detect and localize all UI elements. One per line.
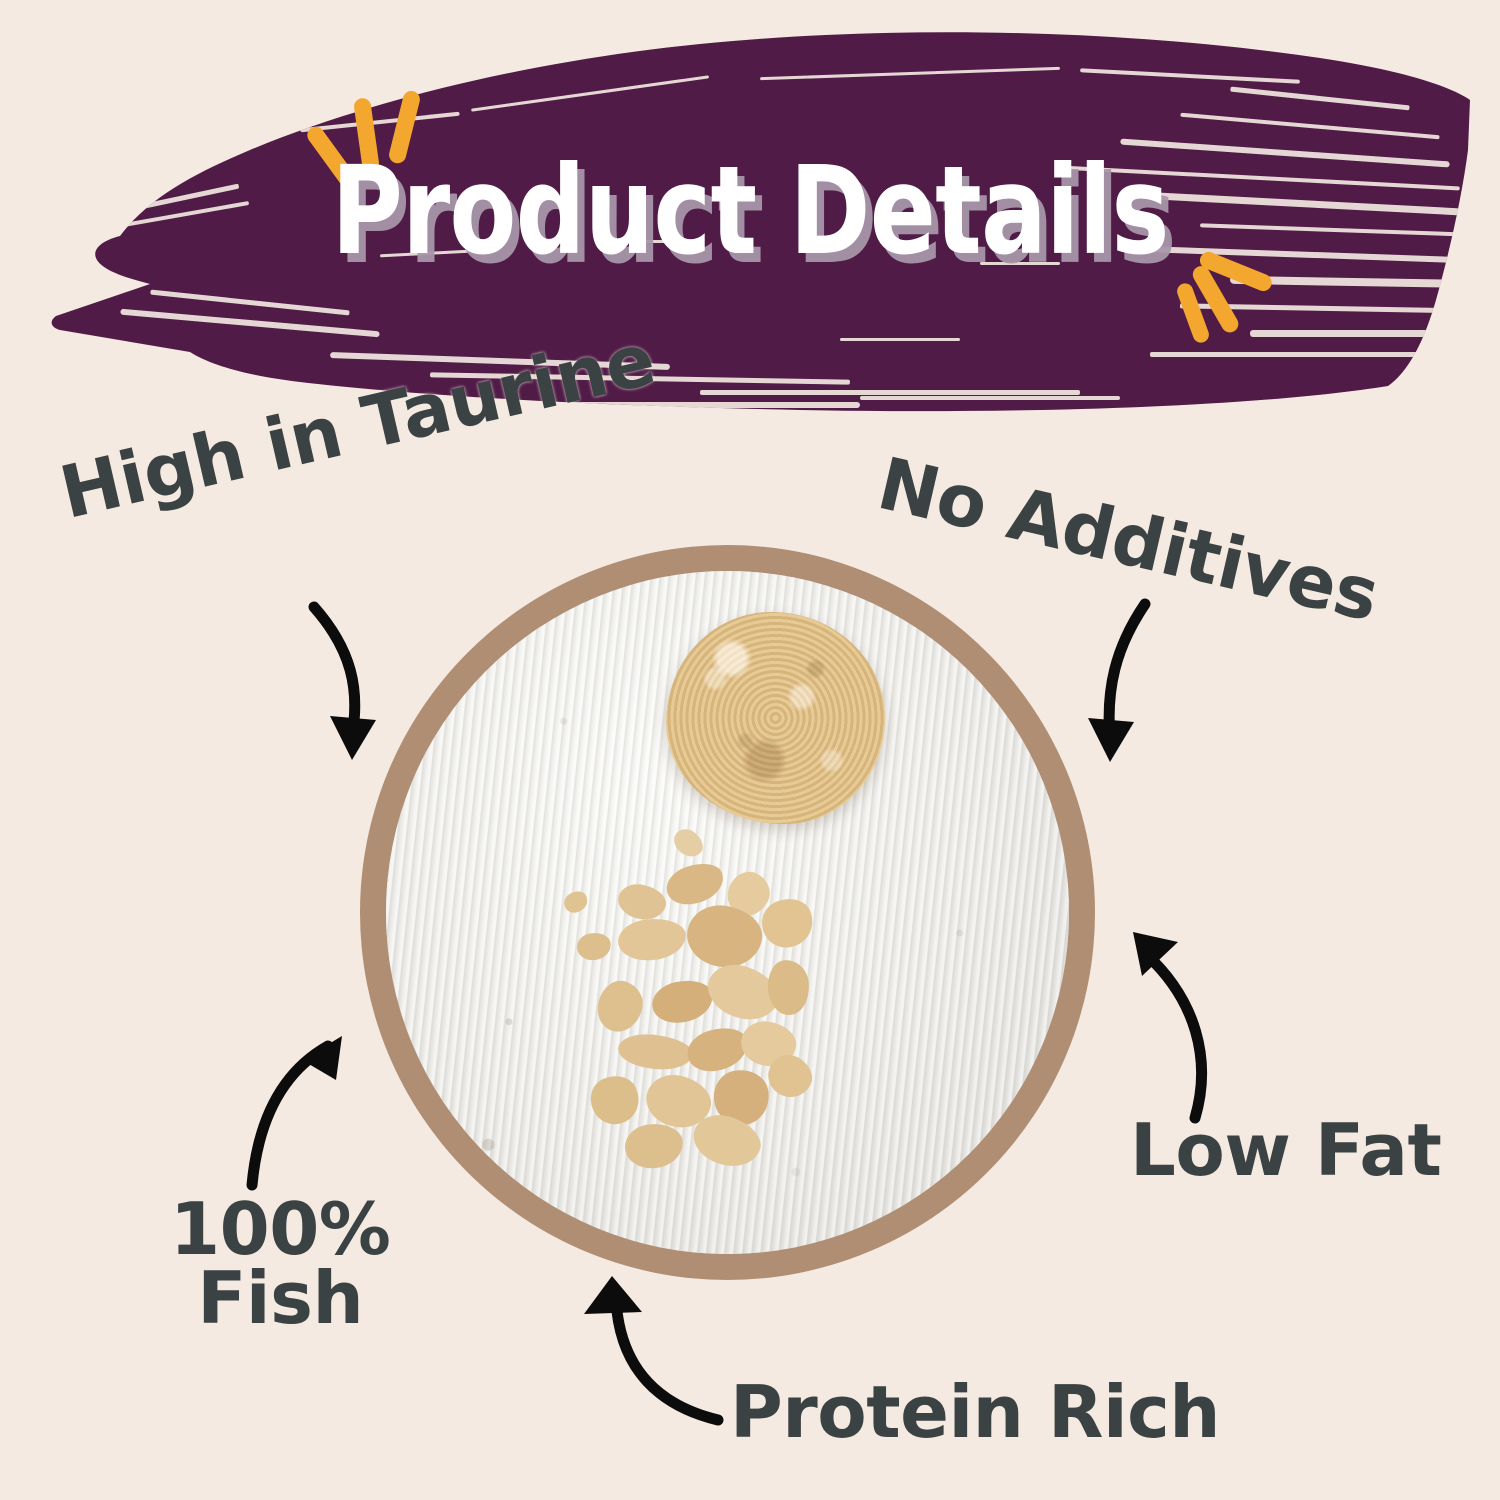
- header-banner: Product Details: [0, 0, 1500, 430]
- arrowhead-additives: [1088, 718, 1134, 762]
- feature-label-line-2: Fish: [170, 1264, 390, 1333]
- arrow-protein: [616, 1300, 718, 1420]
- arrowhead-lowfat: [1133, 932, 1178, 976]
- arrow-taurine: [314, 607, 355, 736]
- page-title: Product Details: [150, 150, 1350, 272]
- product-photo-circle: [360, 545, 1095, 1280]
- arrowhead-taurine: [330, 716, 376, 760]
- arrow-fish: [252, 1046, 328, 1185]
- product-photo: [386, 571, 1069, 1254]
- arrowhead-fish: [302, 1036, 342, 1080]
- arrow-additives: [1109, 604, 1145, 738]
- feature-label-protein-rich: Protein Rich: [730, 1370, 1220, 1454]
- whole-dried-fish-piece: [666, 612, 885, 824]
- feature-label-low-fat: Low Fat: [1130, 1108, 1441, 1192]
- arrowhead-protein: [584, 1276, 642, 1314]
- arrow-lowfat: [1146, 954, 1202, 1118]
- feature-label-100-percent-fish: 100% Fish: [170, 1195, 390, 1333]
- product-details-graphic: Product Details: [0, 0, 1500, 1500]
